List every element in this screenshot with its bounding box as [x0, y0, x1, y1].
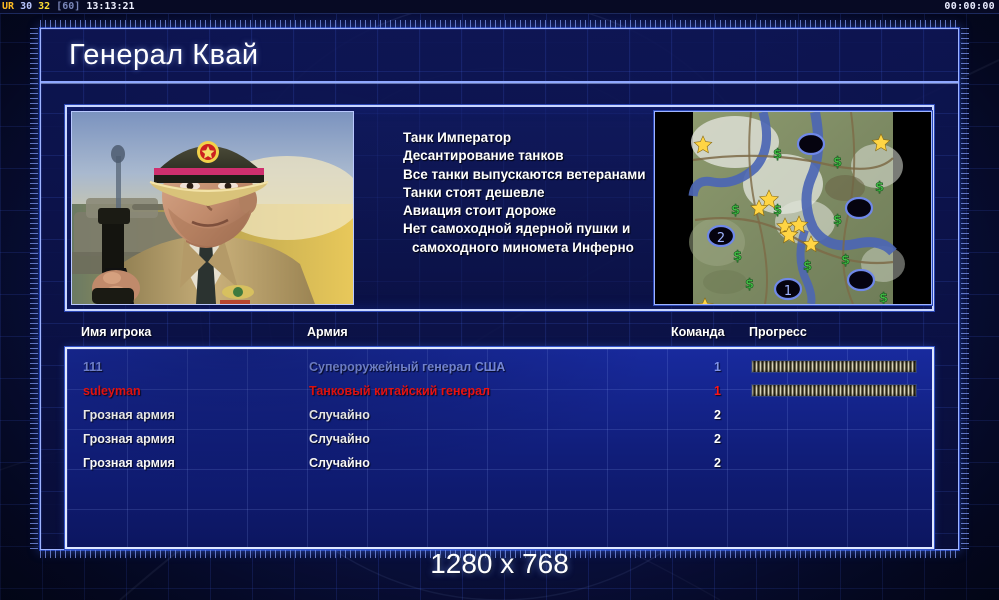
table-row[interactable]: 111Супероружейный генерал США1 [67, 355, 934, 379]
table-row[interactable]: Грозная армияСлучайно2 [67, 403, 934, 427]
column-header-player: Имя игрока [81, 325, 151, 339]
player-team: 2 [697, 403, 721, 427]
player-name: Грозная армия [83, 427, 175, 451]
player-army: Случайно [309, 451, 370, 475]
svg-text:$: $ [841, 253, 850, 268]
player-name: Грозная армия [83, 451, 175, 475]
ruler-left [30, 28, 38, 550]
svg-text:$: $ [745, 277, 754, 292]
fps-value: 30 [20, 1, 32, 12]
svg-text:$: $ [803, 259, 812, 274]
player-progress [751, 384, 917, 397]
resolution-label: 1280 x 768 [0, 548, 999, 580]
page-title: Генерал Квай [69, 39, 259, 72]
system-clock: 13:13:21 [86, 1, 134, 12]
ruler-top [40, 20, 959, 28]
table-row[interactable]: suleymanТанковый китайский генерал1 [67, 379, 934, 403]
player-army: Случайно [309, 403, 370, 427]
svg-text:$: $ [833, 155, 842, 170]
player-team: 2 [697, 451, 721, 475]
svg-text:$: $ [733, 249, 742, 264]
player-table-header: Имя игрока Армия Команда Прогресс [65, 325, 934, 347]
player-team: 1 [697, 379, 721, 403]
svg-text:$: $ [773, 147, 782, 162]
svg-text:1: 1 [784, 284, 792, 299]
column-header-army: Армия [307, 325, 348, 339]
map-preview[interactable]: $ $ $ $ $ $ $ $ $ $ $ [654, 111, 932, 305]
svg-text:2: 2 [717, 231, 725, 246]
fps-label: UR [2, 1, 14, 12]
progress-bar-fill [751, 360, 917, 373]
elapsed-timer: 00:00:00 [944, 0, 995, 14]
game-screen: UR 30 32 [60] 13:13:21 00:00:00 Генерал … [0, 0, 999, 600]
player-team: 2 [697, 427, 721, 451]
svg-text:$: $ [833, 213, 842, 228]
player-army: Случайно [309, 427, 370, 451]
fps-max: [60] [56, 1, 80, 12]
player-list: 111Супероружейный генерал США1suleymanТа… [65, 347, 934, 549]
fps-current: 32 [38, 1, 50, 12]
general-info-panel: Генерал Квай [40, 28, 959, 550]
svg-text:$: $ [731, 203, 740, 218]
player-name: suleyman [83, 379, 141, 403]
title-bar: Генерал Квай [41, 29, 958, 83]
player-army: Супероружейный генерал США [309, 355, 505, 379]
player-name: Грозная армия [83, 403, 175, 427]
svg-text:$: $ [879, 291, 888, 304]
player-army: Танковый китайский генерал [309, 379, 490, 403]
general-details-box: Танк Император Десантирование танков Все… [65, 105, 934, 311]
top-status-bar: UR 30 32 [60] 13:13:21 00:00:00 [0, 0, 999, 14]
table-row[interactable]: Грозная армияСлучайно2 [67, 427, 934, 451]
player-progress [751, 360, 917, 373]
svg-text:$: $ [875, 180, 884, 195]
progress-bar-fill [751, 384, 917, 397]
column-header-team: Команда [671, 325, 725, 339]
column-header-progress: Прогресс [749, 325, 807, 339]
ruler-right [961, 28, 969, 550]
general-portrait [71, 111, 354, 305]
table-row[interactable]: Грозная армияСлучайно2 [67, 451, 934, 475]
player-team: 1 [697, 355, 721, 379]
player-name: 111 [83, 355, 102, 379]
